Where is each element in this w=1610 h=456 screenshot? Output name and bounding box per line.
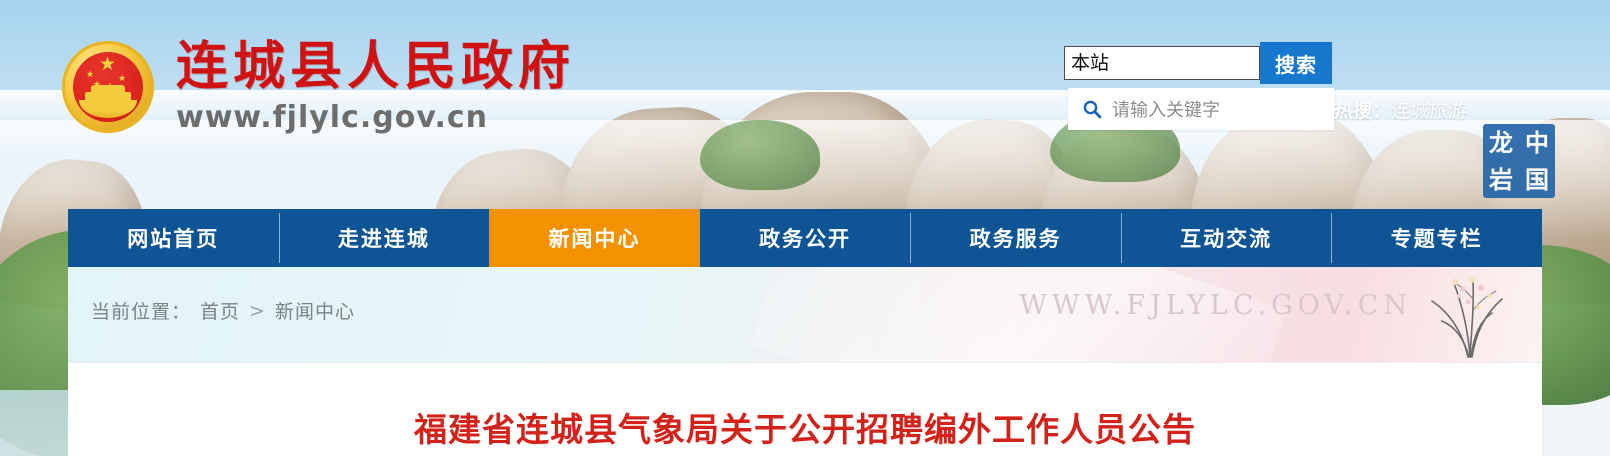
- site-title-block: 连城县人民政府 www.fjlylc.gov.cn: [176, 38, 575, 135]
- nav-item-home[interactable]: 网站首页: [68, 209, 279, 267]
- longyan-seal-logo-icon[interactable]: 龙 中 岩 国: [1483, 124, 1555, 198]
- hot-search-keyword[interactable]: 连城旅游: [1391, 100, 1467, 122]
- breadcrumb-separator-icon: >: [249, 300, 266, 322]
- nav-item-interaction[interactable]: 互动交流: [1121, 209, 1332, 267]
- site-url: www.fjlylc.gov.cn: [176, 100, 575, 135]
- breadcrumb-current[interactable]: 新闻中心: [275, 297, 355, 324]
- site-url-watermark: WWW.FJLYLC.GOV.CN: [1019, 290, 1412, 321]
- page-root: ★ ★ ★ ★ ★ 连城县人民政府 www.fjlylc.gov.cn 龙 中 …: [0, 0, 1610, 456]
- search-button[interactable]: 搜索: [1260, 42, 1332, 84]
- seal-char: 中: [1525, 131, 1549, 155]
- nav-item-about-liancheng[interactable]: 走进连城: [279, 209, 490, 267]
- site-title: 连城县人民政府: [176, 38, 575, 96]
- seal-char: 国: [1525, 168, 1549, 192]
- hot-search-label: 热搜：: [1334, 100, 1391, 122]
- banner-vegetation: [700, 120, 820, 190]
- breadcrumb-home-link[interactable]: 首页: [200, 297, 240, 324]
- search-input[interactable]: 请输入关键字: [1112, 96, 1220, 122]
- breadcrumb-prefix: 当前位置：: [91, 297, 191, 324]
- breadcrumb: 当前位置： 首页 > 新闻中心: [91, 297, 355, 324]
- search-icon: [1082, 99, 1102, 119]
- nav-item-news-center[interactable]: 新闻中心: [489, 209, 700, 267]
- content-panel: 当前位置： 首页 > 新闻中心 WWW.FJLYLC.GOV.CN: [68, 267, 1542, 456]
- search-bar: 本站 搜索: [1064, 46, 1332, 84]
- breadcrumb-bar: 当前位置： 首页 > 新闻中心 WWW.FJLYLC.GOV.CN: [68, 267, 1542, 363]
- nav-item-special-topics[interactable]: 专题专栏: [1331, 209, 1542, 267]
- nav-item-government-services[interactable]: 政务服务: [910, 209, 1121, 267]
- search-scope-select[interactable]: 本站: [1064, 46, 1260, 80]
- seal-char: 岩: [1489, 168, 1513, 192]
- national-emblem-icon: ★ ★ ★ ★ ★: [62, 41, 154, 133]
- main-nav: 网站首页 走进连城 新闻中心 政务公开 政务服务 互动交流 专题专栏: [68, 209, 1542, 267]
- hot-search-text: 热搜：连城旅游: [1334, 96, 1467, 123]
- orchid-decoration-icon: [1410, 269, 1520, 361]
- search-suggestion-dropdown[interactable]: 请输入关键字: [1068, 88, 1334, 130]
- site-logo[interactable]: ★ ★ ★ ★ ★ 连城县人民政府 www.fjlylc.gov.cn: [62, 38, 575, 135]
- nav-item-government-affairs-disclosure[interactable]: 政务公开: [700, 209, 911, 267]
- page-title: 福建省连城县气象局关于公开招聘编外工作人员公告: [68, 403, 1542, 451]
- seal-char: 龙: [1489, 131, 1513, 155]
